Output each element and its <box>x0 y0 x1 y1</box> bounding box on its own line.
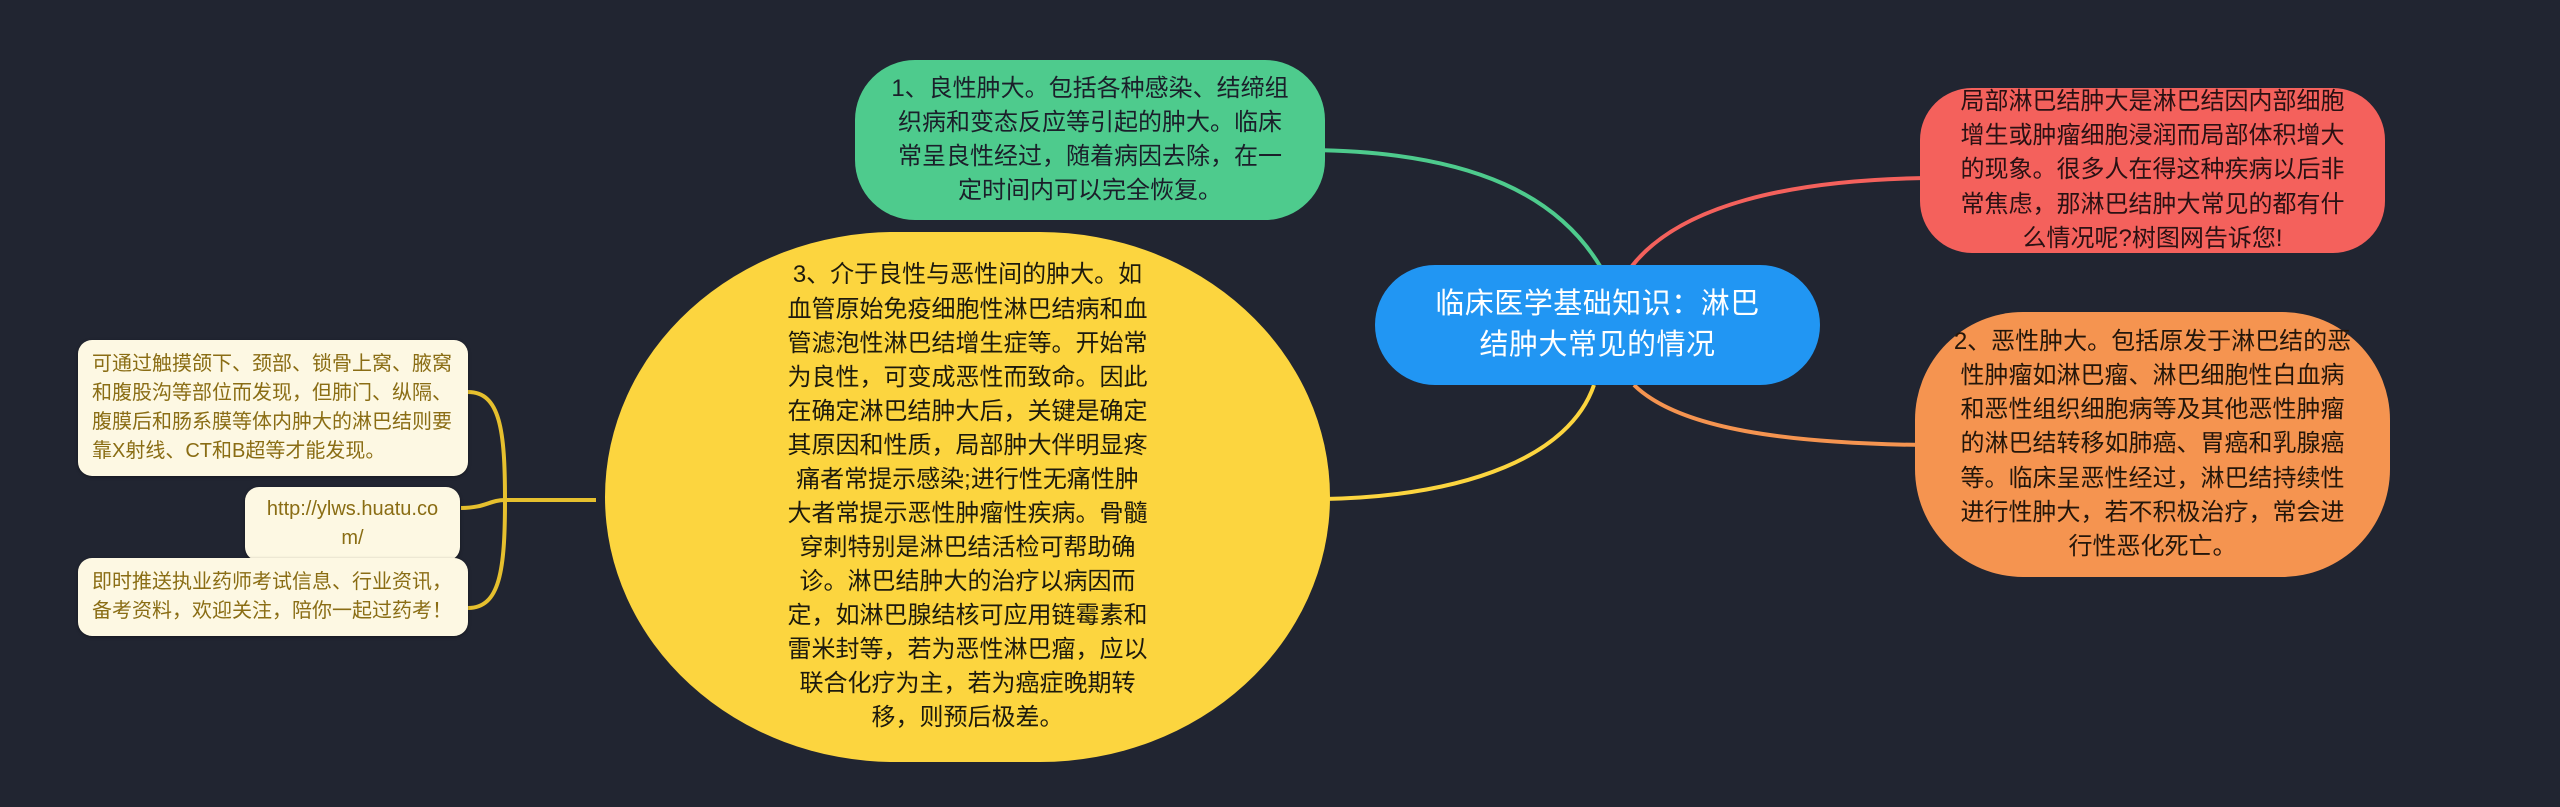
edge-green-center <box>1312 150 1600 266</box>
mindmap-canvas: 1、良性肿大。包括各种感染、结缔组织病和变态反应等引起的肿大。临床常呈良性经过，… <box>0 0 2560 807</box>
branch-node-overview[interactable]: 局部淋巴结肿大是淋巴结因内部细胞增生或肿瘤细胞浸润而局部体积增大的现象。很多人在… <box>1920 88 2385 253</box>
edge-detect-yellow <box>468 392 505 500</box>
edge-promo-yellow <box>468 500 505 608</box>
edge-yellow-center <box>1324 385 1594 499</box>
note-source-url[interactable]: http://ylws.huatu.com/ <box>245 487 460 561</box>
edge-orange-center <box>1634 385 1922 445</box>
branch-node-malignant[interactable]: 2、恶性肿大。包括原发于淋巴结的恶性肿瘤如淋巴瘤、淋巴细胞性白血病和恶性组织细胞… <box>1915 312 2390 577</box>
note-detection-methods[interactable]: 可通过触摸颌下、颈部、锁骨上窝、腋窝和腹股沟等部位而发现，但肺门、纵隔、腹膜后和… <box>78 340 468 476</box>
note-promotion[interactable]: 即时推送执业药师考试信息、行业资讯，备考资料，欢迎关注，陪你一起过药考！ <box>78 558 468 636</box>
edge-url-yellow <box>461 500 505 508</box>
center-node[interactable]: 临床医学基础知识：淋巴结肿大常见的情况 <box>1375 265 1820 385</box>
edge-red-center <box>1632 178 1926 266</box>
branch-node-benign[interactable]: 1、良性肿大。包括各种感染、结缔组织病和变态反应等引起的肿大。临床常呈良性经过，… <box>855 60 1325 220</box>
branch-node-intermediate[interactable]: 3、介于良性与恶性间的肿大。如血管原始免疫细胞性淋巴结病和血管滤泡性淋巴结增生症… <box>605 232 1330 762</box>
